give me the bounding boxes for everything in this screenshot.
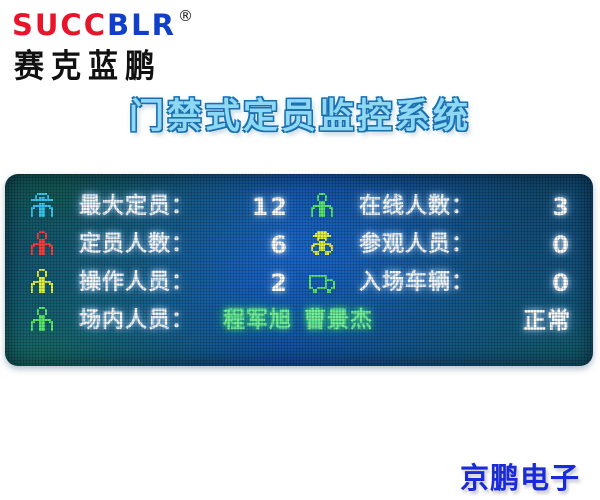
field-value: 2 bbox=[270, 264, 289, 302]
person-cap-icon bbox=[27, 191, 57, 223]
onsite-name: 曹景杰 bbox=[304, 308, 373, 333]
field-value: 12 bbox=[252, 188, 289, 226]
brand-wordmark: SUCCBLR bbox=[12, 10, 176, 40]
led-row: 场内人员： 程军旭曹景杰 正常 bbox=[5, 302, 593, 340]
brand-chinese-name: 赛克蓝鹏 bbox=[14, 39, 162, 87]
truck-icon bbox=[307, 267, 337, 299]
footer-company-mark: 京鹏电子 bbox=[460, 455, 580, 497]
led-row: 操作人员： 2 bbox=[5, 264, 593, 302]
field-vehicle-count: 入场车辆： 0 bbox=[307, 264, 571, 302]
field-value: 0 bbox=[552, 226, 571, 264]
field-max-capacity: 最大定员： 12 bbox=[27, 188, 289, 226]
field-label: 参观人员： bbox=[359, 226, 474, 264]
field-onsite-personnel: 场内人员： 程军旭曹景杰 正常 bbox=[27, 302, 571, 340]
registered-trademark-icon: ® bbox=[178, 7, 193, 25]
field-visitor-count: 参观人员： 0 bbox=[307, 226, 571, 264]
field-operator-count: 操作人员： 2 bbox=[27, 264, 289, 302]
field-label: 操作人员： bbox=[79, 264, 194, 302]
onsite-names-list: 程军旭曹景杰 bbox=[223, 302, 373, 340]
led-rows: 最大定员： 12 bbox=[5, 174, 593, 366]
person-icon bbox=[27, 267, 57, 299]
brand-wordmark-blue: BLR bbox=[107, 8, 176, 42]
led-row: 定员人数： 6 bbox=[5, 226, 593, 264]
led-row: 最大定员： 12 bbox=[5, 188, 593, 226]
field-value: 6 bbox=[270, 226, 289, 264]
brand-wordmark-red: SUCC bbox=[12, 8, 107, 42]
worker-helmet-icon bbox=[307, 229, 337, 261]
field-label: 最大定员： bbox=[79, 188, 194, 226]
onsite-name: 程军旭 bbox=[223, 308, 292, 333]
status-badge: 正常 bbox=[523, 302, 571, 340]
brand-logo: SUCCBLR ® 赛克蓝鹏 bbox=[8, 6, 258, 76]
led-display-panel: 最大定员： 12 bbox=[5, 174, 593, 366]
field-label: 入场车辆： bbox=[359, 264, 474, 302]
field-value: 3 bbox=[552, 188, 571, 226]
field-label: 定员人数： bbox=[79, 226, 194, 264]
person-icon bbox=[307, 191, 337, 223]
field-online-count: 在线人数： 3 bbox=[307, 188, 571, 226]
field-label: 场内人员： bbox=[79, 302, 194, 340]
field-registered-count: 定员人数： 6 bbox=[27, 226, 289, 264]
field-label: 在线人数： bbox=[359, 188, 474, 226]
person-icon bbox=[27, 305, 57, 337]
field-value: 0 bbox=[552, 264, 571, 302]
page-title: 门禁式定员监控系统 bbox=[0, 88, 600, 139]
person-icon bbox=[27, 229, 57, 261]
